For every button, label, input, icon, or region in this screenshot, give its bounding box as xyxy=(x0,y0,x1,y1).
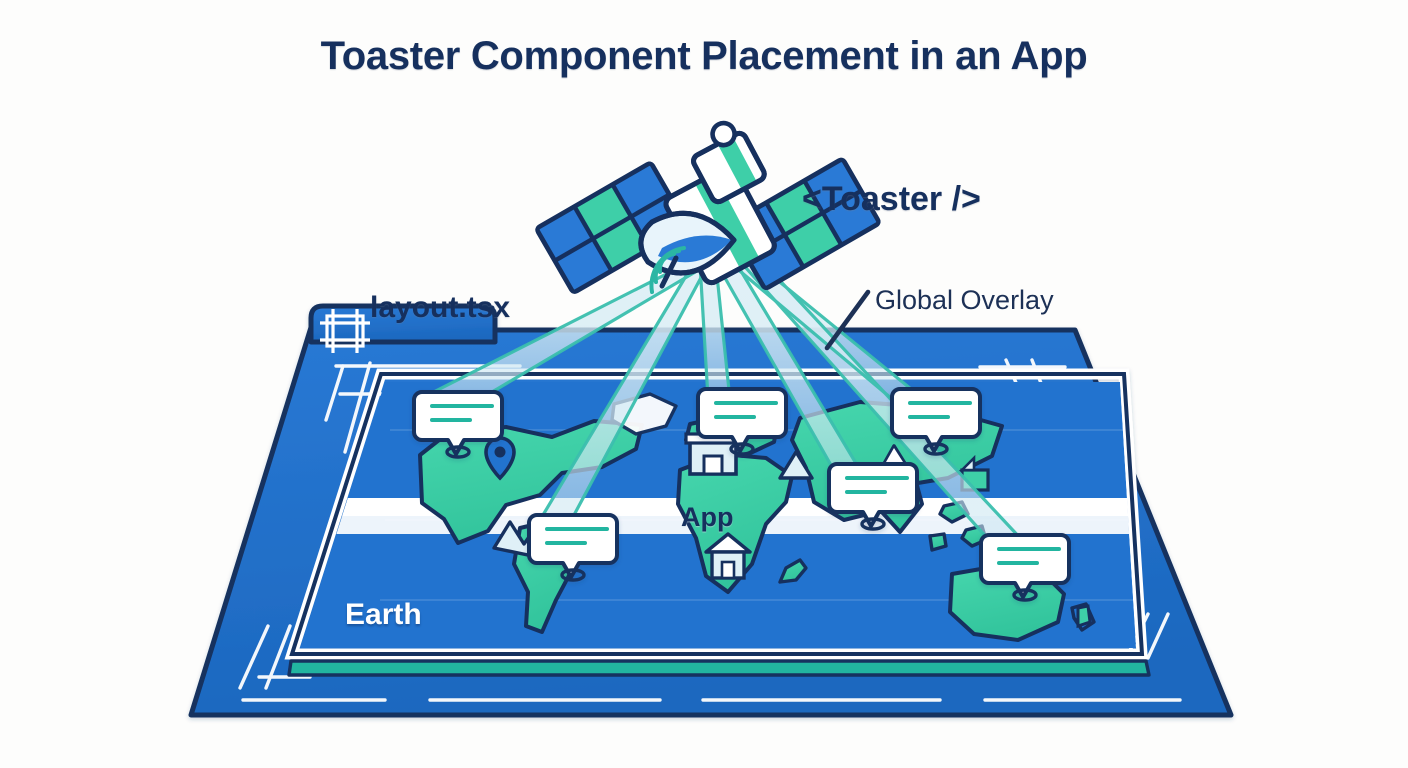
earth-label: Earth xyxy=(345,598,422,632)
layout-file-label: layout.tsx xyxy=(370,291,510,325)
accent-bar xyxy=(289,661,1149,675)
boat-icon xyxy=(1078,606,1090,626)
app-label: App xyxy=(681,502,733,533)
illustration-canvas xyxy=(0,0,1408,768)
page-title: Toaster Component Placement in an App xyxy=(0,34,1408,79)
toaster-tag-label: <Toaster /> xyxy=(802,180,981,219)
global-overlay-label: Global Overlay xyxy=(875,285,1054,316)
